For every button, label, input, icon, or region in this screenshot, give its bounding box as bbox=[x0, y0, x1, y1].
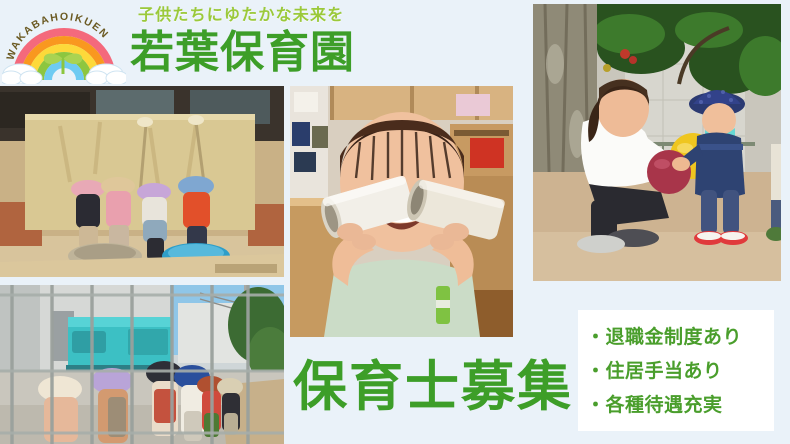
benefit-item: ・退職金制度あり bbox=[586, 321, 774, 355]
benefit-item: ・住居手当あり bbox=[586, 355, 774, 389]
benefits-list: ・退職金制度あり ・住居手当あり ・各種待遇充実 bbox=[578, 310, 774, 423]
photo-children-at-mud-wall bbox=[0, 86, 284, 277]
benefit-item: ・各種待遇充実 bbox=[586, 389, 774, 423]
photo-child-with-paper-tubes bbox=[290, 86, 513, 337]
benefits-box: ・退職金制度あり ・住居手当あり ・各種待遇充実 bbox=[578, 310, 774, 431]
wakaba-logo: WAKABAHOIKUEN bbox=[2, 2, 126, 84]
photo-teacher-handing-balls bbox=[533, 4, 781, 281]
photo-children-watching-truck bbox=[0, 285, 284, 444]
recruitment-headline: 保育士募集 bbox=[293, 358, 573, 416]
rainbow-logo-icon: WAKABAHOIKUEN bbox=[2, 2, 126, 84]
recruitment-banner: WAKABAHOIKUEN 子供たちにゆたかな未来を 若葉保育園 bbox=[0, 0, 790, 444]
brand-name: 若葉保育園 bbox=[130, 26, 380, 80]
brand-header: 子供たちにゆたかな未来を 若葉保育園 bbox=[130, 6, 380, 84]
brand-tagline: 子供たちにゆたかな未来を bbox=[130, 6, 380, 26]
